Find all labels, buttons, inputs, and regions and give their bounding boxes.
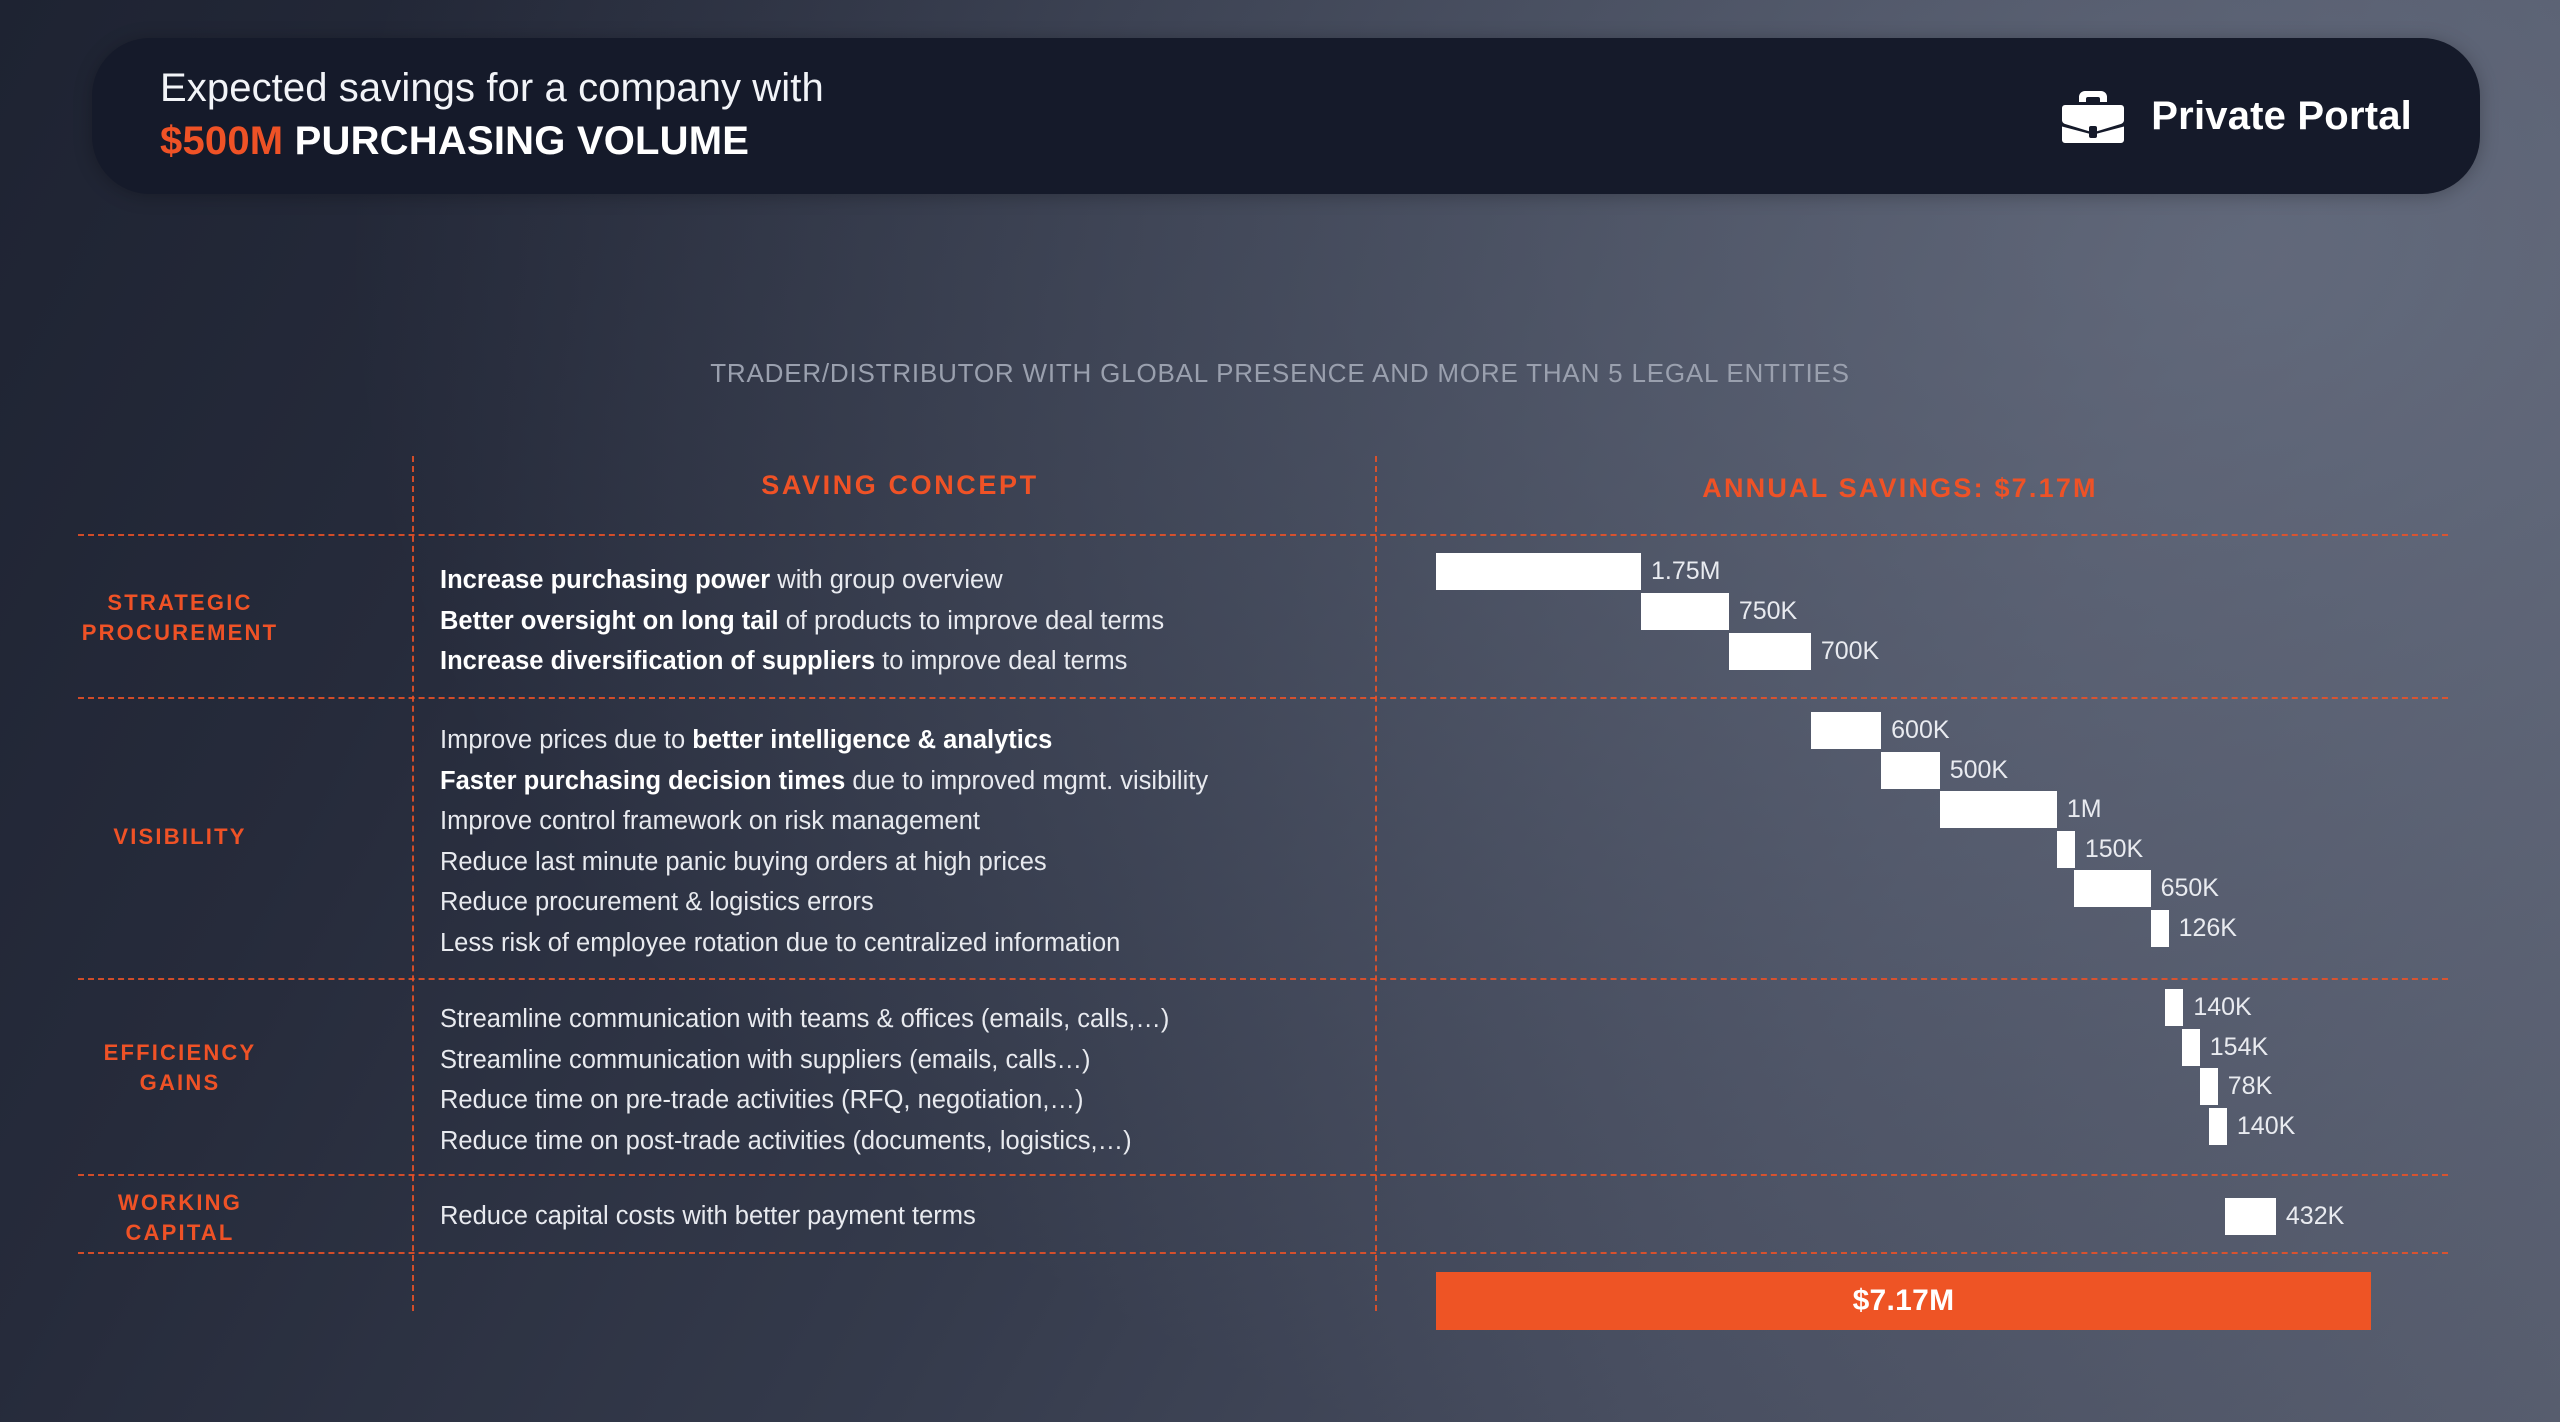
waterfall-bar (2182, 1029, 2200, 1066)
waterfall-bar-label: 700K (1821, 633, 1879, 670)
divider-row-0 (78, 534, 2448, 536)
concept-line: Streamline communication with suppliers … (440, 1040, 1340, 1081)
waterfall-bar (1940, 791, 2057, 828)
divider-row-2 (78, 978, 2448, 980)
waterfall-bar (1729, 633, 1811, 670)
category-line1: VISIBILITY (60, 822, 300, 852)
waterfall-bar-label: 126K (2179, 910, 2237, 947)
waterfall-bar-label: 140K (2193, 989, 2251, 1026)
concept-group-working-capital: Reduce capital costs with better payment… (440, 1196, 1340, 1237)
concept-line: Faster purchasing decision times due to … (440, 761, 1340, 802)
waterfall-bar (2209, 1108, 2227, 1145)
divider-vertical-right (1375, 456, 1377, 1311)
waterfall-bar (2225, 1198, 2276, 1235)
concept-line: Reduce time on pre-trade activities (RFQ… (440, 1080, 1340, 1121)
divider-row-3 (78, 1174, 2448, 1176)
category-line2: CAPITAL (60, 1218, 300, 1248)
concept-line: Reduce procurement & logistics errors (440, 882, 1340, 923)
category-line2: GAINS (60, 1068, 300, 1098)
column-header-saving-concept: SAVING CONCEPT (730, 470, 1070, 501)
category-label-working-capital: WORKING CAPITAL (60, 1188, 300, 1248)
category-label-visibility: VISIBILITY (60, 822, 300, 852)
slide-canvas: Expected savings for a company with $500… (0, 0, 2560, 1422)
concept-line: Better oversight on long tail of product… (440, 601, 1340, 642)
waterfall-bar-label: 150K (2085, 831, 2143, 868)
concept-group-strategic-procurement: Increase purchasing power with group ove… (440, 560, 1340, 682)
waterfall-bar (1641, 593, 1729, 630)
category-label-strategic-procurement: STRATEGIC PROCUREMENT (60, 588, 300, 648)
concept-line: Improve control framework on risk manage… (440, 801, 1340, 842)
waterfall-bar-label: 500K (1950, 752, 2008, 789)
waterfall-bar-label: 650K (2161, 870, 2219, 907)
concept-line: Reduce last minute panic buying orders a… (440, 842, 1340, 883)
category-line1: WORKING (60, 1188, 300, 1218)
annual-savings-amount: $7.17M (1994, 473, 2097, 503)
concept-line: Increase diversification of suppliers to… (440, 641, 1340, 682)
divider-vertical-left (412, 456, 414, 1311)
total-savings-bar: $7.17M (1436, 1272, 2371, 1330)
category-line2: PROCUREMENT (60, 618, 300, 648)
concept-line: Reduce time on post-trade activities (do… (440, 1121, 1340, 1162)
savings-table: SAVING CONCEPT ANNUAL SAVINGS: $7.17M ST… (0, 0, 2560, 1422)
waterfall-bar-label: 750K (1739, 593, 1797, 630)
category-line1: STRATEGIC (60, 588, 300, 618)
concept-line: Reduce capital costs with better payment… (440, 1196, 1340, 1237)
waterfall-bar-label: 1M (2067, 791, 2102, 828)
concept-line: Improve prices due to better intelligenc… (440, 720, 1340, 761)
waterfall-bar (1881, 752, 1940, 789)
waterfall-bar (1811, 712, 1881, 749)
total-savings-label: $7.17M (1853, 1284, 1955, 1318)
waterfall-bar-label: 154K (2210, 1029, 2268, 1066)
waterfall-bar (2200, 1068, 2218, 1105)
waterfall-bar-label: 432K (2286, 1198, 2344, 1235)
column-header-annual-savings: ANNUAL SAVINGS: $7.17M (1660, 473, 2140, 504)
category-line1: EFFICIENCY (60, 1038, 300, 1068)
waterfall-bar (1436, 553, 1641, 590)
waterfall-bar-label: 140K (2237, 1108, 2295, 1145)
waterfall-bar (2165, 989, 2183, 1026)
waterfall-bar-label: 600K (1891, 712, 1949, 749)
annual-savings-prefix: ANNUAL SAVINGS: (1702, 473, 1994, 503)
waterfall-bar-label: 1.75M (1651, 553, 1720, 590)
concept-group-visibility: Improve prices due to better intelligenc… (440, 720, 1340, 963)
divider-row-4 (78, 1252, 2448, 1254)
waterfall-bar (2151, 910, 2169, 947)
waterfall-bar (2057, 831, 2075, 868)
category-label-efficiency-gains: EFFICIENCY GAINS (60, 1038, 300, 1098)
concept-group-efficiency-gains: Streamline communication with teams & of… (440, 999, 1340, 1161)
concept-line: Increase purchasing power with group ove… (440, 560, 1340, 601)
concept-line: Less risk of employee rotation due to ce… (440, 923, 1340, 964)
waterfall-bar-label: 78K (2228, 1068, 2272, 1105)
divider-row-1 (78, 697, 2448, 699)
concept-line: Streamline communication with teams & of… (440, 999, 1340, 1040)
waterfall-bar (2074, 870, 2150, 907)
